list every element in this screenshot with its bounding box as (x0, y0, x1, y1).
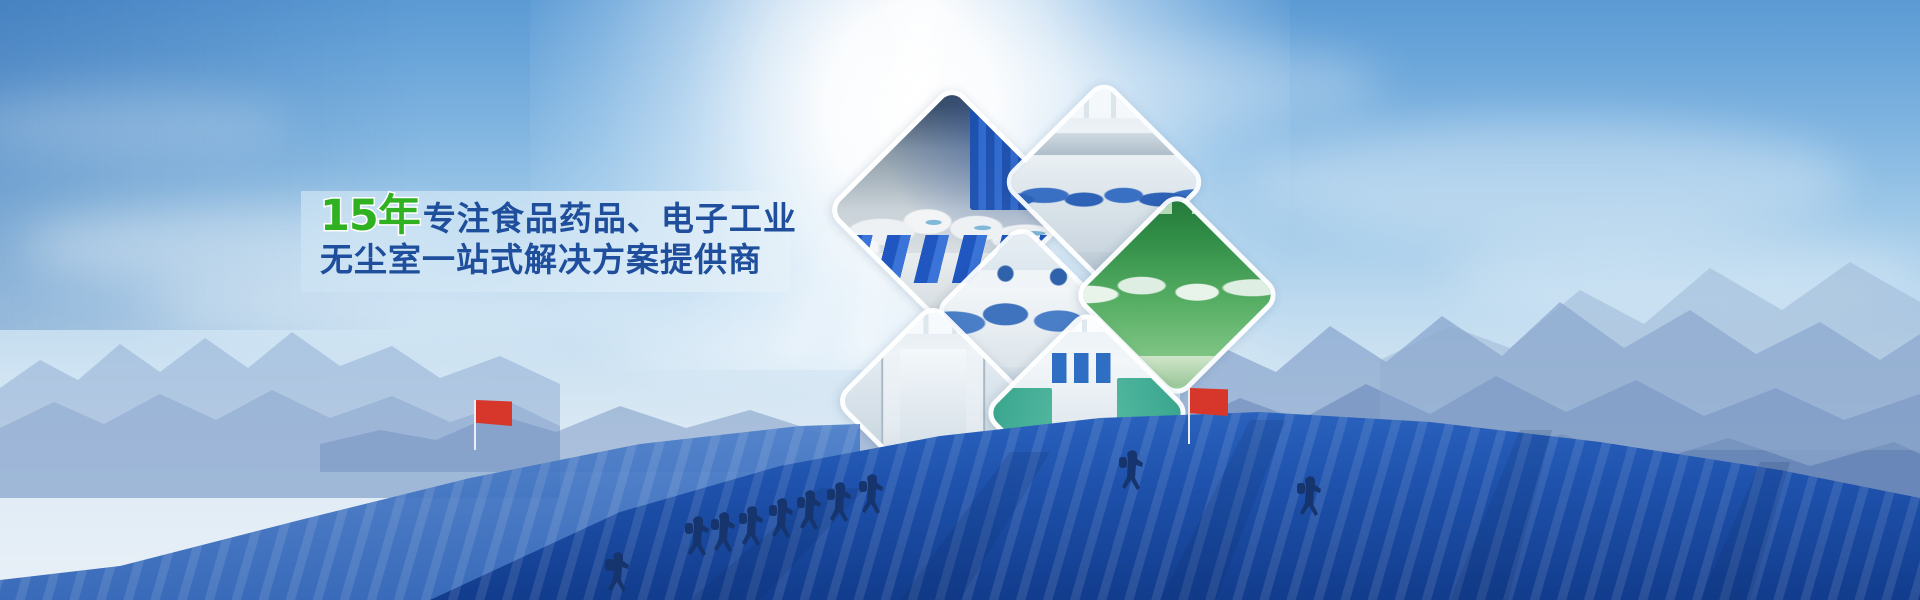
years-badge: 15年 (320, 195, 420, 238)
headline-line-1: 15年 专注食品药品、电子工业 (320, 195, 790, 241)
foreground-ridge (0, 370, 1920, 600)
hero-banner: 15年 专注食品药品、电子工业 无尘室一站式解决方案提供商 (0, 0, 1920, 600)
headline-line-1-rest: 专注食品药品、电子工业 (423, 202, 797, 235)
headline-line-2-text: 无尘室一站式解决方案提供商 (320, 243, 762, 276)
flag-cloth (476, 400, 512, 426)
flag-pole (474, 400, 476, 450)
headline-line-2: 无尘室一站式解决方案提供商 (320, 243, 790, 289)
red-flag-right (1188, 388, 1230, 444)
red-flag-left (474, 400, 514, 450)
headline-block: 15年 专注食品药品、电子工业 无尘室一站式解决方案提供商 (301, 191, 790, 292)
flag-cloth (1190, 388, 1228, 416)
flag-pole (1188, 388, 1190, 444)
